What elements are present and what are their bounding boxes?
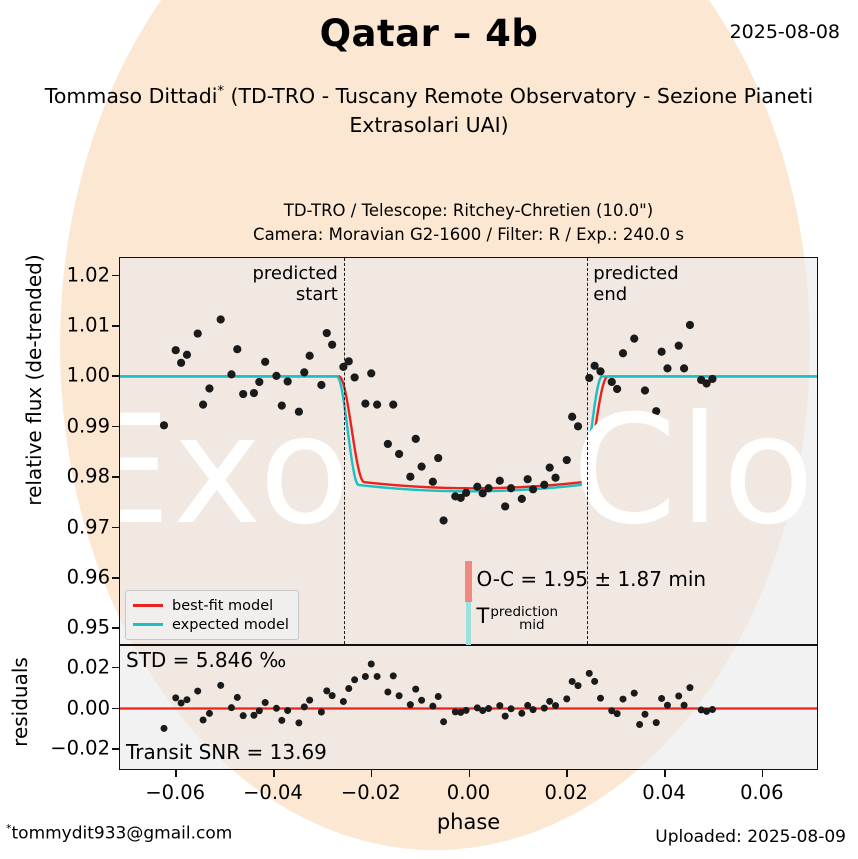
residual-point xyxy=(435,693,442,700)
data-point xyxy=(686,321,694,329)
x-tick: 0.02 xyxy=(545,781,588,804)
data-point xyxy=(636,412,644,420)
residual-point xyxy=(641,711,648,718)
data-point xyxy=(652,407,660,415)
chart-page: Qatar – 4b 2025-08-08 Tommaso Dittadi* (… xyxy=(0,0,858,859)
y-tick-mark xyxy=(112,627,119,629)
residual-y-tick-mark xyxy=(112,667,119,669)
data-point xyxy=(255,378,263,386)
residual-point xyxy=(183,696,190,703)
residual-point xyxy=(194,688,201,695)
data-point xyxy=(501,502,509,510)
data-point xyxy=(160,421,168,429)
residual-point xyxy=(262,699,269,706)
residuals-y-tick-labels: 0.020.00−0.02 xyxy=(28,645,110,770)
residual-point xyxy=(457,709,464,716)
residual-point xyxy=(541,705,548,712)
oc-marker-predicted xyxy=(466,602,471,645)
legend-item-expected: expected model xyxy=(133,615,289,634)
residual-point xyxy=(362,673,369,680)
residual-point xyxy=(160,725,167,732)
residual-point xyxy=(301,703,308,710)
footer-email: *tommydit933@gmail.com xyxy=(6,822,232,844)
residual-point xyxy=(631,690,638,697)
residual-point xyxy=(278,717,285,724)
x-tick: −0.04 xyxy=(243,781,303,804)
data-point xyxy=(278,402,286,410)
predicted-start-label: predicted start xyxy=(174,264,338,305)
residual-point xyxy=(563,695,570,702)
main-y-tick: 1.02 xyxy=(67,263,110,286)
residual-point xyxy=(284,707,291,714)
residual-point xyxy=(675,693,682,700)
snr-label: Transit SNR = 13.69 xyxy=(126,740,327,764)
residual-point xyxy=(390,672,397,679)
data-point xyxy=(613,385,621,393)
residual-point xyxy=(178,699,185,706)
data-point xyxy=(233,345,241,353)
oc-label: O-C = 1.95 ± 1.87 min xyxy=(477,567,707,591)
legend-item-best-fit: best-fit model xyxy=(133,596,289,615)
residuals-y-axis-label: residuals xyxy=(8,622,32,782)
residual-point xyxy=(412,686,419,693)
main-y-tick: 0.99 xyxy=(67,414,110,437)
residual-point xyxy=(479,707,486,714)
data-point xyxy=(317,381,325,389)
residual-point xyxy=(273,705,280,712)
y-tick-mark xyxy=(112,527,119,529)
data-point xyxy=(272,372,280,380)
residual-point xyxy=(200,716,207,723)
data-point xyxy=(641,386,649,394)
x-tick-mark xyxy=(273,770,275,777)
data-point xyxy=(239,390,247,398)
residual-point xyxy=(228,704,235,711)
tmid-prediction-label: Tpredictionmid xyxy=(477,604,583,628)
residual-y-tick-mark xyxy=(112,748,119,750)
residual-point xyxy=(586,670,593,677)
legend-label-expected: expected model xyxy=(172,617,289,633)
residual-point xyxy=(597,695,604,702)
data-point xyxy=(395,450,403,458)
residual-point xyxy=(368,660,375,667)
residual-point xyxy=(340,698,347,705)
tmid-subscript: mid xyxy=(519,617,544,633)
data-point xyxy=(367,369,375,377)
data-point xyxy=(306,352,314,360)
residual-point xyxy=(440,718,447,725)
model-curve-best-fit xyxy=(120,376,818,488)
data-point xyxy=(434,454,442,462)
residual-point xyxy=(524,702,531,709)
data-point xyxy=(351,373,359,381)
residual-point xyxy=(172,694,179,701)
x-tick-mark xyxy=(371,770,373,777)
residual-point xyxy=(234,694,241,701)
data-point xyxy=(384,440,392,448)
data-point xyxy=(418,463,426,471)
data-point xyxy=(361,400,369,408)
residual-point xyxy=(552,702,559,709)
main-y-tick: 1.00 xyxy=(67,364,110,387)
x-tick-mark xyxy=(566,770,568,777)
caption-line-1: TD-TRO / Telescope: Ritchey-Chretien (10… xyxy=(119,199,818,223)
residual-point xyxy=(256,707,263,714)
y-tick-mark xyxy=(112,577,119,579)
data-point xyxy=(328,341,336,349)
data-point xyxy=(439,516,447,524)
data-point xyxy=(183,351,191,359)
data-point xyxy=(507,484,515,492)
author-name: Tommaso Dittadi xyxy=(45,84,218,108)
x-tick-mark xyxy=(175,770,177,777)
x-tick: 0.04 xyxy=(642,781,685,804)
data-point xyxy=(205,384,213,392)
residual-y-tick: 0.02 xyxy=(67,655,110,678)
residual-point xyxy=(575,682,582,689)
data-point xyxy=(574,422,582,430)
main-y-tick: 1.01 xyxy=(67,314,110,337)
legend-swatch-best-fit xyxy=(133,604,163,607)
main-y-tick: 0.96 xyxy=(67,565,110,588)
residual-point xyxy=(703,708,710,715)
tmid-base: T xyxy=(477,604,490,628)
residual-point xyxy=(496,702,503,709)
footer-upload-date: Uploaded: 2025-08-09 xyxy=(655,827,846,847)
main-y-tick: 0.98 xyxy=(67,465,110,488)
residual-point xyxy=(619,696,626,703)
residual-point xyxy=(374,673,381,680)
residual-point xyxy=(569,678,576,685)
residual-point xyxy=(329,692,336,699)
residual-y-tick-mark xyxy=(112,708,119,710)
residual-point xyxy=(206,710,213,717)
data-point xyxy=(261,358,269,366)
x-tick: 0.00 xyxy=(447,781,490,804)
footer-email-text: tommydit933@gmail.com xyxy=(12,824,233,844)
plot-caption: TD-TRO / Telescope: Ritchey-Chretien (10… xyxy=(119,199,818,247)
x-tick: −0.06 xyxy=(145,781,205,804)
data-point xyxy=(295,408,303,416)
residual-point xyxy=(686,684,693,691)
residual-point xyxy=(508,705,515,712)
x-tick: −0.02 xyxy=(341,781,401,804)
data-point xyxy=(479,489,487,497)
data-point xyxy=(217,315,225,323)
data-point xyxy=(608,378,616,386)
residual-point xyxy=(323,687,330,694)
residual-point xyxy=(518,710,525,717)
y-tick-mark xyxy=(112,476,119,478)
data-point xyxy=(591,362,599,370)
data-point xyxy=(563,456,571,464)
data-point xyxy=(227,370,235,378)
std-label: STD = 5.846 ‰ xyxy=(126,648,286,672)
predicted-start-line xyxy=(344,258,345,644)
residual-point xyxy=(407,701,414,708)
residual-point xyxy=(681,702,688,709)
legend-swatch-expected xyxy=(133,623,163,626)
data-point xyxy=(529,485,537,493)
residual-point xyxy=(546,698,553,705)
data-point xyxy=(177,359,185,367)
data-point xyxy=(412,435,420,443)
data-point xyxy=(199,401,207,409)
legend: best-fit model expected model xyxy=(125,590,299,640)
residual-point xyxy=(384,689,391,696)
data-point xyxy=(172,346,180,354)
data-point xyxy=(524,475,532,483)
y-tick-mark xyxy=(112,325,119,327)
data-point xyxy=(345,357,353,365)
data-point xyxy=(546,464,554,472)
data-point xyxy=(496,477,504,485)
x-tick-mark xyxy=(469,770,471,777)
data-point xyxy=(663,364,671,372)
observation-date: 2025-08-08 xyxy=(730,21,840,43)
residual-point xyxy=(636,721,643,728)
residual-point xyxy=(345,685,352,692)
data-point xyxy=(568,413,576,421)
oc-marker-observed xyxy=(465,561,472,602)
data-point xyxy=(194,329,202,337)
residual-point xyxy=(318,708,325,715)
residual-point xyxy=(418,697,425,704)
data-point xyxy=(680,364,688,372)
x-tick: 0.06 xyxy=(740,781,783,804)
caption-line-2: Camera: Moravian G2-1600 / Filter: R / E… xyxy=(119,223,818,247)
main-y-axis-label: relative flux (de-trended) xyxy=(22,180,46,580)
residual-point xyxy=(351,676,358,683)
residual-point xyxy=(306,697,313,704)
y-tick-mark xyxy=(112,375,119,377)
predicted-end-label: predicted end xyxy=(593,264,773,305)
residual-point xyxy=(502,713,509,720)
residual-point xyxy=(240,712,247,719)
data-point xyxy=(323,329,331,337)
data-point xyxy=(473,483,481,491)
residual-point xyxy=(664,702,671,709)
data-point xyxy=(300,368,308,376)
legend-label-best-fit: best-fit model xyxy=(172,598,273,614)
residual-point xyxy=(653,719,660,726)
data-point xyxy=(619,349,627,357)
main-y-tick: 0.95 xyxy=(67,616,110,639)
data-point xyxy=(389,401,397,409)
main-y-tick: 0.97 xyxy=(67,515,110,538)
data-point xyxy=(457,494,465,502)
affiliation-text: (TD-TRO - Tuscany Remote Observatory - S… xyxy=(224,84,813,137)
residual-point xyxy=(396,692,403,699)
data-point xyxy=(540,481,548,489)
data-point xyxy=(630,335,638,343)
data-point xyxy=(284,377,292,385)
model-curve-expected xyxy=(120,376,818,491)
x-tick-mark xyxy=(762,770,764,777)
data-point xyxy=(675,342,683,350)
data-point xyxy=(373,401,381,409)
x-tick-mark xyxy=(664,770,666,777)
data-point xyxy=(518,495,526,503)
y-tick-mark xyxy=(112,426,119,428)
residual-point xyxy=(250,712,257,719)
residual-point xyxy=(429,703,436,710)
residual-point xyxy=(658,695,665,702)
residual-y-tick: −0.02 xyxy=(50,737,110,760)
data-point xyxy=(429,478,437,486)
y-tick-mark xyxy=(112,275,119,277)
residual-point xyxy=(614,710,621,717)
residual-point xyxy=(295,719,302,726)
residual-point xyxy=(591,678,598,685)
data-points-group xyxy=(160,315,717,524)
data-point xyxy=(406,473,414,481)
data-point xyxy=(250,389,258,397)
data-point xyxy=(658,348,666,356)
author-affiliation: Tommaso Dittadi* (TD-TRO - Tuscany Remot… xyxy=(14,82,844,140)
data-point xyxy=(551,474,559,482)
residual-y-tick: 0.00 xyxy=(67,696,110,719)
data-point xyxy=(702,379,710,387)
residual-point xyxy=(217,682,224,689)
